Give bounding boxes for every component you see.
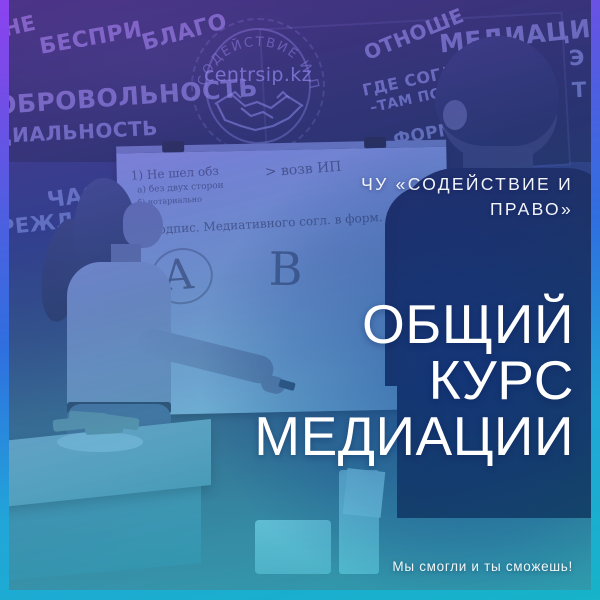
promo-poster: НЕ БЕСПРИ БЛАГО ОБРОВОЛЬНОСТЬ ЦИАЛЬНОСТЬ…	[0, 0, 600, 600]
organization-name: ЧУ «СОДЕЙСТВИЕ И ПРАВО»	[143, 172, 573, 223]
poster-headline: ОБЩИЙ КУРС МЕДИАЦИИ	[14, 296, 574, 464]
headline-line-2: КУРС	[14, 352, 574, 408]
photo-area: НЕ БЕСПРИ БЛАГО ОБРОВОЛЬНОСТЬ ЦИАЛЬНОСТЬ…	[9, 0, 591, 590]
headline-line-1: ОБЩИЙ	[14, 296, 574, 352]
headline-line-3: МЕДИАЦИИ	[14, 408, 574, 464]
organization-line-2: ПРАВО»	[143, 197, 573, 222]
poster-tagline: Мы смогли и ты сможешь!	[153, 559, 573, 574]
text-layer: ЧУ «СОДЕЙСТВИЕ И ПРАВО» ОБЩИЙ КУРС МЕДИА…	[9, 0, 591, 590]
organization-line-1: ЧУ «СОДЕЙСТВИЕ И	[143, 172, 573, 197]
